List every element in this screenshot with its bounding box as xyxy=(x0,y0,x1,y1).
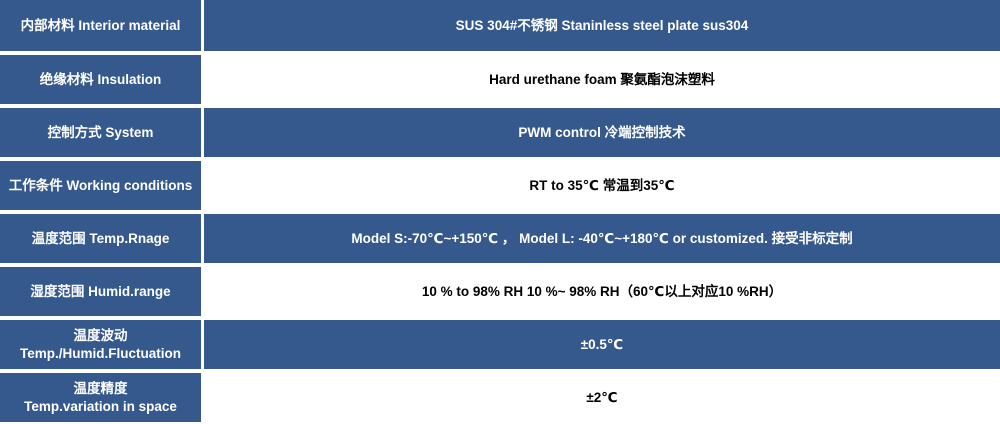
row-value-insulation: Hard urethane foam 聚氨酯泡沫塑料 xyxy=(204,53,1000,106)
table-row: 控制方式 System PWM control 冷端控制技术 xyxy=(0,106,1000,159)
row-label-working-conditions: 工作条件 Working conditions xyxy=(0,159,204,212)
table-row: 工作条件 Working conditions RT to 35℃ 常温到35℃ xyxy=(0,159,1000,212)
table-row: 湿度范围 Humid.range 10 % to 98% RH 10 %~ 98… xyxy=(0,265,1000,318)
specifications-table: 内部材料 Interior material SUS 304#不锈钢 Stani… xyxy=(0,0,1000,424)
row-value-working-conditions: RT to 35℃ 常温到35℃ xyxy=(204,159,1000,212)
row-value-temp-humid-fluctuation: ±0.5℃ xyxy=(204,318,1000,371)
specifications-table-body: 内部材料 Interior material SUS 304#不锈钢 Stani… xyxy=(0,0,1000,424)
row-label-interior-material: 内部材料 Interior material xyxy=(0,0,204,53)
row-label-line-en: Temp./Humid.Fluctuation xyxy=(6,345,195,362)
row-value-system: PWM control 冷端控制技术 xyxy=(204,106,1000,159)
table-row: 绝缘材料 Insulation Hard urethane foam 聚氨酯泡沫… xyxy=(0,53,1000,106)
row-label-temp-humid-fluctuation: 温度波动 Temp./Humid.Fluctuation xyxy=(0,318,204,371)
table-row: 温度范围 Temp.Rnage Model S:-70℃~+150℃ ， Mod… xyxy=(0,212,1000,265)
table-row: 温度精度 Temp.variation in space ±2℃ xyxy=(0,371,1000,424)
row-label-line-cn: 温度精度 xyxy=(6,380,195,397)
row-label-temp-variation-in-space: 温度精度 Temp.variation in space xyxy=(0,371,204,424)
row-value-temp-range: Model S:-70℃~+150℃ ， Model L: -40℃~+180℃… xyxy=(204,212,1000,265)
row-label-insulation: 绝缘材料 Insulation xyxy=(0,53,204,106)
table-row: 内部材料 Interior material SUS 304#不锈钢 Stani… xyxy=(0,0,1000,53)
row-value-interior-material: SUS 304#不锈钢 Staninless steel plate sus30… xyxy=(204,0,1000,53)
row-label-humid-range: 湿度范围 Humid.range xyxy=(0,265,204,318)
row-label-system: 控制方式 System xyxy=(0,106,204,159)
row-label-line-en: Temp.variation in space xyxy=(6,398,195,415)
table-row: 温度波动 Temp./Humid.Fluctuation ±0.5℃ xyxy=(0,318,1000,371)
row-label-line-cn: 温度波动 xyxy=(6,327,195,344)
row-value-temp-variation-in-space: ±2℃ xyxy=(204,371,1000,424)
row-label-temp-range: 温度范围 Temp.Rnage xyxy=(0,212,204,265)
row-value-humid-range: 10 % to 98% RH 10 %~ 98% RH（60℃以上对应10 %R… xyxy=(204,265,1000,318)
